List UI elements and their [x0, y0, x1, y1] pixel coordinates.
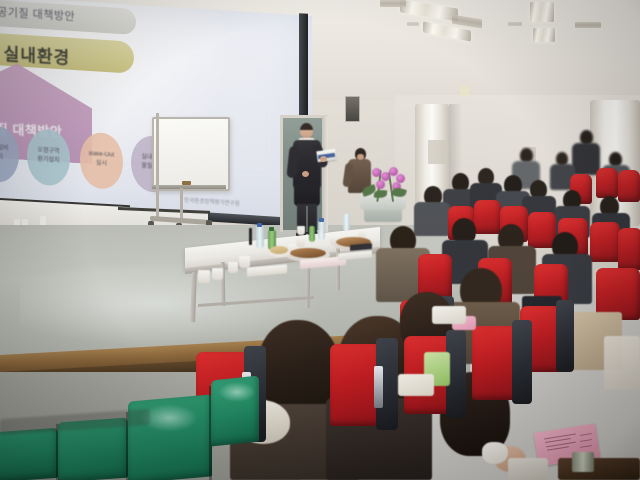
seat-back[interactable]: [512, 320, 532, 404]
ceiling-light-icon: [530, 2, 554, 22]
auditorium-seat[interactable]: [590, 222, 620, 262]
slide-footer-text: 한국환경정책평가연구원: [184, 196, 294, 211]
ceiling-vent-icon: [575, 22, 601, 28]
slide-oval-1-label: 환기설비설치: [0, 143, 19, 163]
food-items: [290, 248, 326, 258]
wall-panel: [428, 140, 446, 164]
whiteboard-leg: [180, 188, 183, 222]
green-bottle: [309, 226, 315, 242]
presenter-skirt: [294, 184, 320, 206]
audience-torso: [572, 143, 600, 175]
orchid-flower: [372, 168, 381, 177]
orchid-flower: [376, 180, 385, 189]
water-bottle: [256, 226, 264, 248]
auditorium-seat[interactable]: [596, 168, 618, 198]
whiteboard: [152, 117, 230, 191]
door-jamb: [322, 116, 328, 232]
bottle-cap: [319, 218, 324, 222]
presenter-hand: [302, 171, 309, 177]
wall-speaker-icon: [345, 96, 360, 122]
sleeve: [508, 458, 548, 480]
water-bottle: [318, 221, 325, 240]
paper-cup: [228, 262, 238, 273]
ceiling-vent-icon: [380, 0, 406, 7]
seat-armrest: [374, 366, 383, 408]
front-bench-seat[interactable]: [0, 428, 58, 480]
light-switch-icon[interactable]: [460, 86, 469, 96]
whiteboard-marker[interactable]: [182, 181, 191, 185]
bottle-cap: [257, 223, 262, 227]
audience-torso: [414, 202, 450, 236]
white-wrapper: [432, 306, 466, 324]
pen[interactable]: [249, 228, 252, 245]
bottle-cap: [269, 227, 274, 231]
tissue: [482, 442, 508, 464]
dark-railing: [558, 458, 640, 480]
paper-cup: [239, 256, 250, 268]
paper-cup: [296, 237, 305, 247]
auditorium-seat[interactable]: [474, 200, 501, 234]
snack-items: [270, 246, 288, 254]
auditorium-seat[interactable]: [618, 170, 640, 202]
whiteboard-tray: [152, 185, 226, 189]
slide-oval-2-label: 오염구역환기설치: [27, 146, 70, 166]
paper-cup: [297, 226, 305, 235]
presenter-leg-gap: [306, 206, 308, 232]
ceiling-light-icon: [533, 28, 555, 42]
seat-back[interactable]: [556, 300, 574, 372]
beverage-can: [572, 452, 594, 472]
seat-highlight: [218, 382, 256, 402]
whiteboard-leg: [156, 113, 159, 221]
presenter-hand: [320, 156, 327, 162]
ceiling-vent-icon: [407, 22, 419, 26]
ceiling-vent-icon: [508, 22, 522, 26]
photograph-auditorium-seminar: 표회 표회 구대학교 환경공학과 실내공기질 대책방안 쾌적한 실내환경 실내공…: [0, 0, 640, 480]
slide-oval-3-label: Bake-Out실시: [80, 149, 123, 169]
water-bottle: [343, 214, 350, 231]
paper-stack: [398, 374, 434, 396]
plastic-bag: [604, 336, 640, 390]
paper-cup: [212, 268, 223, 280]
standing-person-face: [357, 154, 364, 160]
paper-cup: [198, 270, 210, 283]
auditorium-seat[interactable]: [618, 228, 640, 270]
